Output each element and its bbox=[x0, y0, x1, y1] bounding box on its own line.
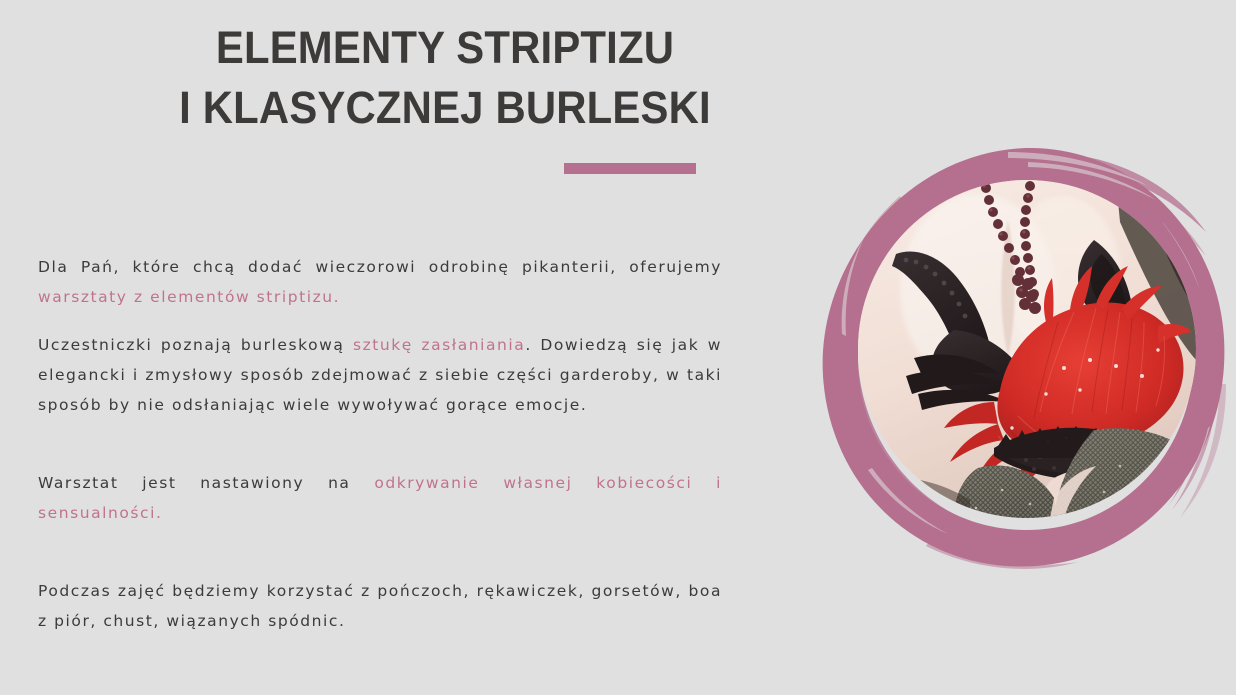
title-divider-bar bbox=[564, 163, 696, 174]
paragraph-3: Warsztat jest nastawiony na odkrywanie w… bbox=[38, 468, 722, 528]
title-line-2: I KLASYCZNEJ BURLESKI bbox=[68, 78, 821, 138]
paragraph-2: Uczestniczki poznają burleskową sztukę z… bbox=[38, 330, 722, 420]
slide-canvas: ELEMENTY STRIPTIZU I KLASYCZNEJ BURLESKI… bbox=[0, 0, 1236, 695]
highlighted-phrase: warsztaty z elementów striptizu. bbox=[38, 288, 340, 306]
text-run: Uczestniczki poznają burleskową bbox=[38, 336, 353, 354]
body-text-block: Dla Pań, które chcą dodać wieczorowi odr… bbox=[38, 252, 722, 636]
page-title: ELEMENTY STRIPTIZU I KLASYCZNEJ BURLESKI bbox=[40, 18, 850, 138]
text-run: Warsztat jest nastawiony na bbox=[38, 474, 374, 492]
paragraph-1: Dla Pań, które chcą dodać wieczorowi odr… bbox=[38, 252, 722, 312]
text-run: Podczas zajęć będziemy korzystać z pończ… bbox=[38, 582, 722, 630]
paragraph-4: Podczas zajęć będziemy korzystać z pończ… bbox=[38, 576, 722, 636]
title-line-1: ELEMENTY STRIPTIZU bbox=[68, 18, 821, 78]
text-run: Dla Pań, które chcą dodać wieczorowi odr… bbox=[38, 258, 722, 276]
photo-frame bbox=[812, 138, 1236, 574]
burlesque-photo bbox=[858, 180, 1196, 518]
highlighted-phrase: sztukę zasłaniania bbox=[353, 336, 525, 354]
